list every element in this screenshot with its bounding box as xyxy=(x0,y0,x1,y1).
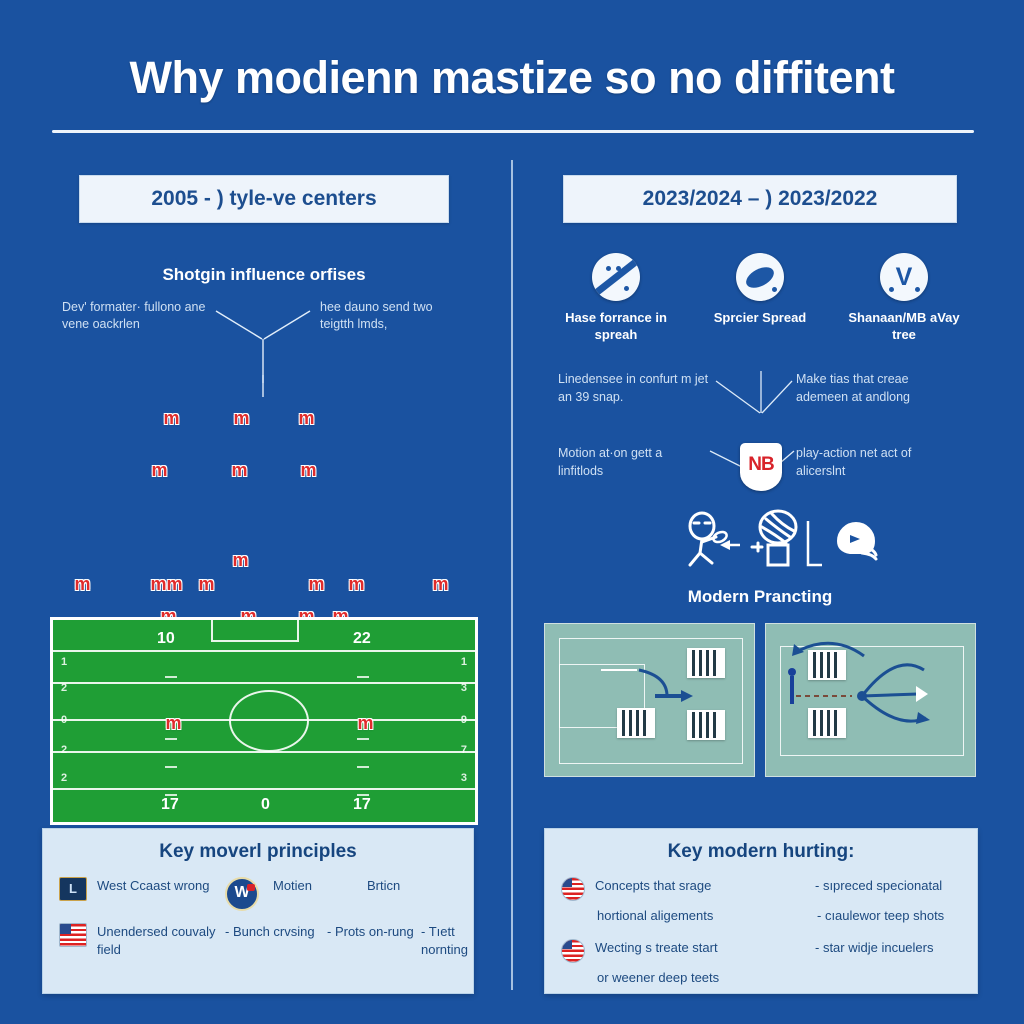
us-flag-circle-icon xyxy=(561,877,585,901)
key-cell: Brticn xyxy=(367,877,447,911)
right-column: 2023/2024 – ) 2023/2022 Hase forrance in… xyxy=(544,160,976,777)
football-slash-icon xyxy=(592,253,640,301)
side-yard-number: 0 xyxy=(61,714,67,726)
concept-icon-label: Sprcier Spread xyxy=(698,310,822,327)
us-flag-icon xyxy=(59,923,87,947)
badge-spacer xyxy=(561,907,587,929)
key-cell: Concepts that srage xyxy=(595,877,809,895)
callout-bottom-left: Motion at·on gett a linfitlods xyxy=(558,445,710,480)
key-cell: - Bunch crvsing xyxy=(225,923,321,958)
side-yard-number: 7 xyxy=(461,744,467,756)
football-field: 10 22 17 0 17 1 2 0 2 2 1 3 9 xyxy=(50,617,478,825)
key-row: Wecting s treate start - star widje incu… xyxy=(561,939,961,963)
figure-connector-lines xyxy=(544,511,976,571)
letter-v-icon: V xyxy=(880,253,928,301)
yard-number: 0 xyxy=(261,796,270,814)
play-diagram-right[interactable] xyxy=(765,623,976,777)
player-marker: m xyxy=(163,712,184,735)
left-column: 2005 - ) tyle-ve centers Shotgin influen… xyxy=(48,160,480,799)
concept-icon-item[interactable]: V Shanaan/MB aVay tree xyxy=(842,253,966,343)
formation-stem-line xyxy=(48,375,480,415)
player-marker: m xyxy=(355,712,376,735)
left-sub-heading: Shotgin influence orfises xyxy=(48,265,480,285)
player-marker: m xyxy=(306,573,327,596)
callout-top-left: Linedensee in confurt m jet an 39 snap. xyxy=(558,371,710,406)
player-marker: m xyxy=(230,549,251,572)
left-callout-group: Dev' formater· fullono ane vene oackrlen… xyxy=(48,299,480,383)
yard-number: 10 xyxy=(157,630,175,648)
key-cell: - Prots on-rung xyxy=(327,923,415,958)
key-box-title: Key moverl principles xyxy=(59,841,457,863)
key-cell: - sıpreced specionatal xyxy=(815,877,1005,895)
key-row: hortional aligements - cıaulewor teep sh… xyxy=(561,907,961,929)
key-cell: - Tıett nornting xyxy=(421,923,501,958)
player-marker: m xyxy=(229,459,250,482)
football-icon xyxy=(736,253,784,301)
player-marker: m xyxy=(298,459,319,482)
key-row: Unendersed couvaly field - Bunch crvsing… xyxy=(59,923,457,958)
key-principles-box-right: Key modern hurting: Concepts that srage … xyxy=(544,828,978,994)
callout-leader-lines xyxy=(48,299,480,383)
key-cell: Motien xyxy=(273,877,361,911)
letter-v-glyph: V xyxy=(880,253,928,301)
key-box-title: Key modern hurting: xyxy=(561,841,961,863)
player-marker: m xyxy=(149,459,170,482)
center-circle xyxy=(229,690,309,752)
side-yard-number: 2 xyxy=(61,772,67,784)
team-logo-icon: L xyxy=(59,877,87,901)
sketch-figure-row xyxy=(544,511,976,573)
practice-heading: Modern Prancting xyxy=(544,587,976,607)
player-marker: m xyxy=(164,573,185,596)
right-era-header[interactable]: 2023/2024 – ) 2023/2022 xyxy=(563,175,957,223)
yard-number: 22 xyxy=(353,630,371,648)
page-title: Why modienn mastize so no diffitent xyxy=(0,52,1024,104)
key-principles-box-left: Key moverl principles L West Ccaast wron… xyxy=(42,828,474,994)
key-cell: Wecting s treate start xyxy=(595,939,809,957)
side-yard-number: 1 xyxy=(461,656,467,668)
play-diagram-panels xyxy=(544,623,976,777)
key-cell: hortional aligements xyxy=(597,907,811,925)
side-yard-number: 2 xyxy=(61,682,67,694)
key-row: Concepts that srage - sıpreced specionat… xyxy=(561,877,961,901)
key-cell: - star widje incuelers xyxy=(815,939,1005,957)
player-marker: m xyxy=(430,573,451,596)
side-yard-number: 2 xyxy=(61,744,67,756)
us-flag-circle-icon xyxy=(561,939,585,963)
field-diagram-area: m m m m m m m m m m m m m m m m m m xyxy=(48,389,480,799)
callout-top-right: Make tias that creae ademeen at andlong xyxy=(796,371,948,406)
player-marker: m xyxy=(296,407,317,430)
player-marker: m xyxy=(72,573,93,596)
league-shield-badge: NB xyxy=(740,443,782,491)
key-row: or weener deep teets xyxy=(561,969,961,991)
badge-spacer xyxy=(561,969,587,991)
concept-icon-label: Hase forrance in spreah xyxy=(554,310,678,343)
play-arrows xyxy=(545,624,755,776)
yard-number: 17 xyxy=(161,796,179,814)
side-yard-number: 3 xyxy=(461,772,467,784)
player-marker: m xyxy=(231,407,252,430)
player-marker: m xyxy=(346,573,367,596)
title-divider xyxy=(52,130,974,133)
key-cell: - cıaulewor teep shots xyxy=(817,907,1007,925)
key-cell: or weener deep teets xyxy=(597,969,811,987)
w-logo-icon: W xyxy=(225,877,259,911)
play-diagram-left[interactable] xyxy=(544,623,755,777)
concept-icon-item[interactable]: Sprcier Spread xyxy=(698,253,822,327)
concept-icon-row: Hase forrance in spreah Sprcier Spread V… xyxy=(544,253,976,343)
concept-icon-label: Shanaan/MB aVay tree xyxy=(842,310,966,343)
right-callout-group: Linedensee in confurt m jet an 39 snap. … xyxy=(544,371,976,501)
callout-bottom-right: play-action net act of alicerslnt xyxy=(796,445,948,480)
left-era-header[interactable]: 2005 - ) tyle-ve centers xyxy=(79,175,449,223)
player-marker: m xyxy=(161,407,182,430)
play-arrows xyxy=(766,624,976,776)
column-divider xyxy=(511,160,513,990)
side-yard-number: 1 xyxy=(61,656,67,668)
infographic-page: Why modienn mastize so no diffitent 2005… xyxy=(0,0,1024,1024)
shield-mark-text: NB xyxy=(748,454,773,476)
side-yard-number: 9 xyxy=(461,714,467,726)
player-marker: m xyxy=(196,573,217,596)
yard-number: 17 xyxy=(353,796,371,814)
concept-icon-item[interactable]: Hase forrance in spreah xyxy=(554,253,678,343)
key-cell: Unendersed couvaly field xyxy=(97,923,219,958)
key-cell xyxy=(817,969,1007,987)
key-row: L West Ccaast wrong W Motien Brticn xyxy=(59,877,457,911)
side-yard-number: 3 xyxy=(461,682,467,694)
key-cell: West Ccaast wrong xyxy=(97,877,219,911)
